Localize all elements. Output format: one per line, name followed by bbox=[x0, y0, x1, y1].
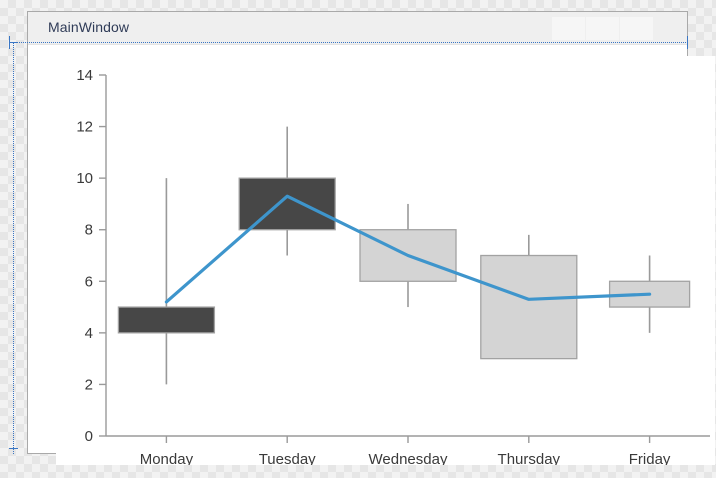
candle-tuesday bbox=[239, 127, 335, 256]
x-tick-label: Tuesday bbox=[259, 451, 316, 465]
close-button[interactable] bbox=[620, 17, 653, 40]
designer-handle-bottom-left bbox=[9, 448, 18, 449]
candle-body bbox=[481, 256, 577, 359]
x-tick-label: Wednesday bbox=[369, 451, 448, 465]
y-tick-label: 10 bbox=[76, 170, 93, 187]
x-tick-label: Monday bbox=[140, 451, 194, 465]
chart-svg: 02468101214 MondayTuesdayWednesdayThursd… bbox=[56, 56, 715, 465]
candle-monday bbox=[118, 178, 214, 384]
candlestick-chart: 02468101214 MondayTuesdayWednesdayThursd… bbox=[56, 56, 715, 465]
designer-handle-top-left-h bbox=[9, 42, 18, 43]
window-title-bar: MainWindow bbox=[28, 12, 687, 45]
y-tick-label: 14 bbox=[76, 67, 93, 84]
y-tick-label: 0 bbox=[85, 428, 93, 445]
designer-handle-top-right bbox=[687, 36, 688, 49]
x-axis: MondayTuesdayWednesdayThursdayFriday bbox=[106, 436, 710, 465]
y-tick-label: 4 bbox=[85, 325, 93, 342]
y-tick-label: 6 bbox=[85, 273, 93, 290]
candle-body bbox=[118, 307, 214, 333]
y-axis: 02468101214 bbox=[76, 67, 106, 445]
designer-guide-left bbox=[13, 42, 14, 454]
y-tick-label: 8 bbox=[85, 222, 93, 239]
x-tick-label: Thursday bbox=[498, 451, 561, 465]
page-title: MainWindow bbox=[48, 19, 129, 35]
minimize-button[interactable] bbox=[552, 17, 585, 40]
y-tick-label: 2 bbox=[85, 376, 93, 393]
designer-window: MainWindow 02468101214 MondayTuesdayWedn… bbox=[27, 11, 688, 454]
candle-series bbox=[118, 127, 689, 385]
x-tick-label: Friday bbox=[629, 451, 671, 465]
maximize-button[interactable] bbox=[586, 17, 619, 40]
y-tick-label: 12 bbox=[76, 119, 93, 136]
candle-body bbox=[239, 178, 335, 230]
